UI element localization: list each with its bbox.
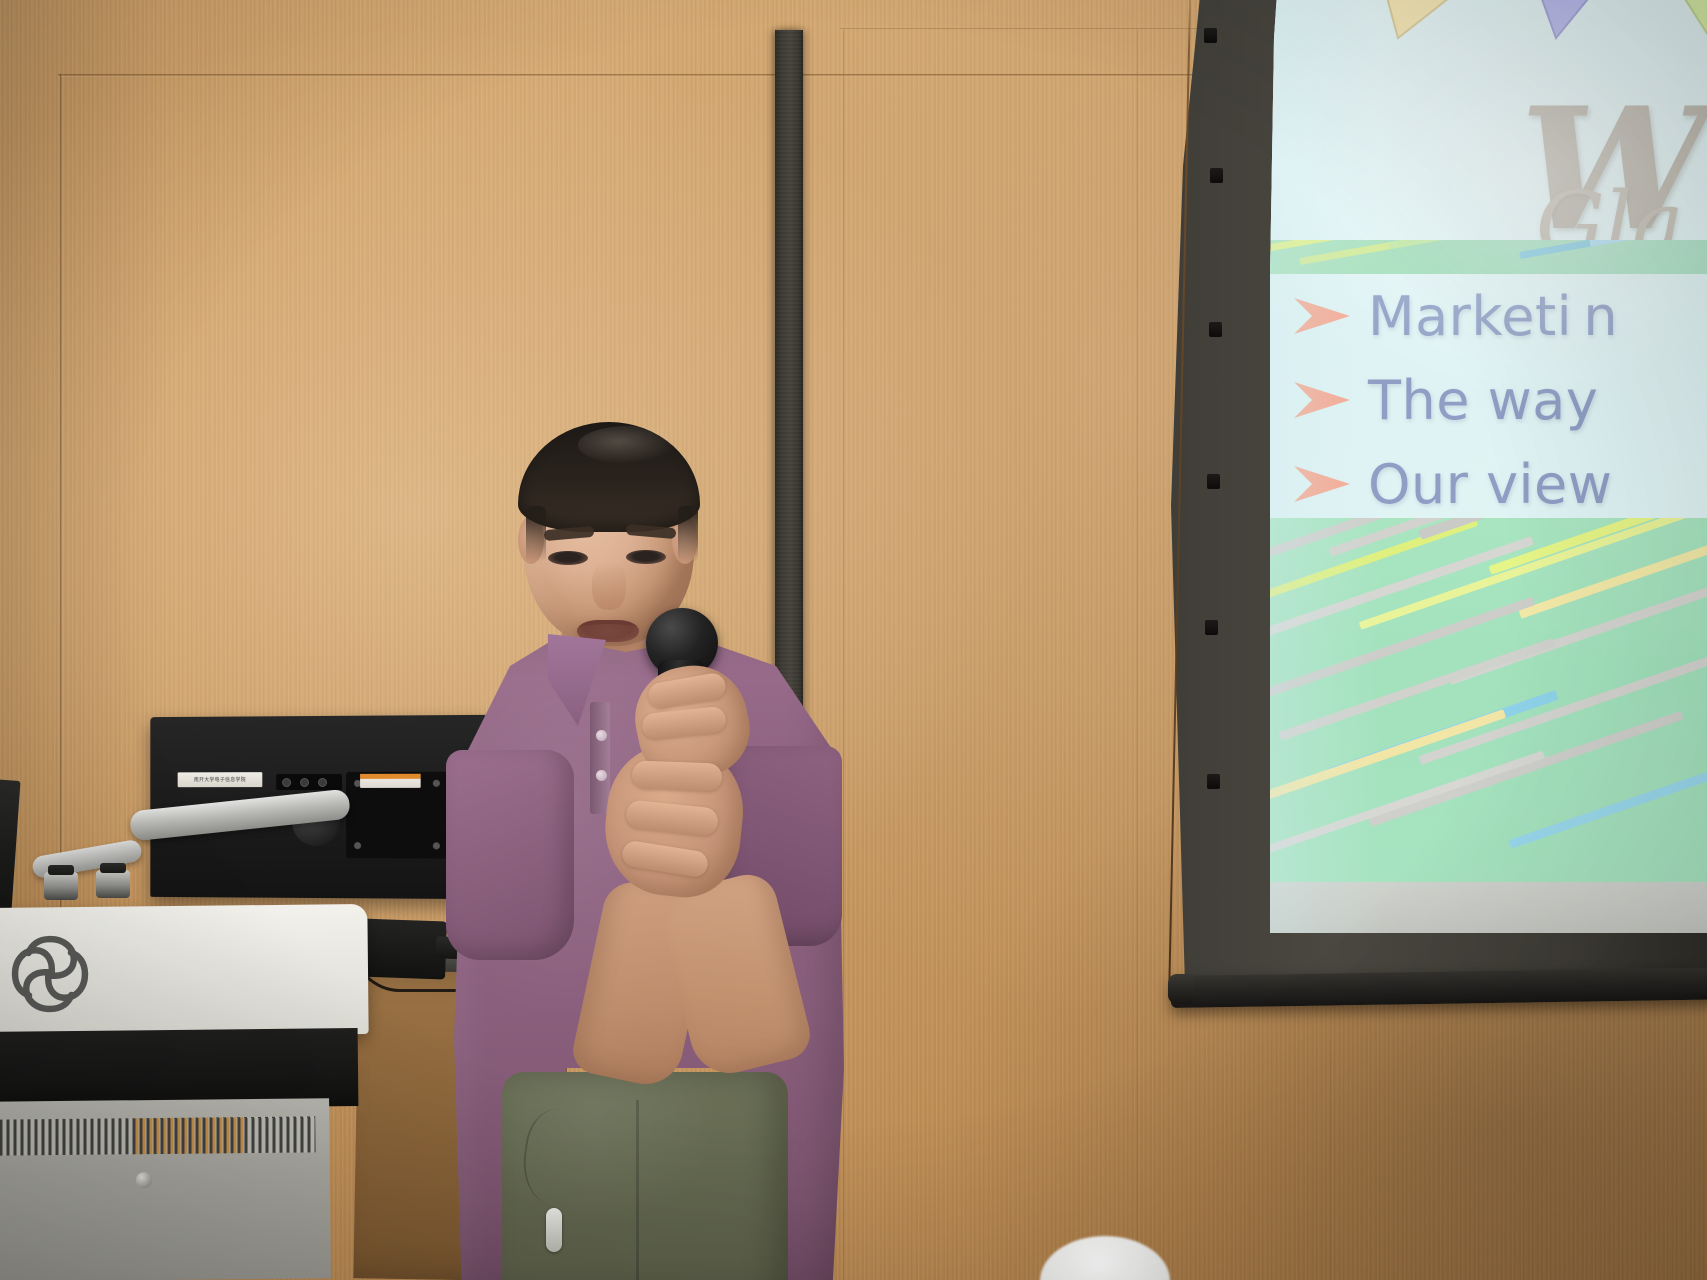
- slide-bullet-text: Marketi n: [1368, 285, 1618, 348]
- speaker-figure: [440, 410, 860, 1280]
- monitor-warning-sticker: [360, 774, 421, 788]
- slide-bullet-text: Our view: [1368, 453, 1612, 516]
- slide-top-triangles: [1360, 0, 1707, 46]
- arrow-bullet-icon: [1292, 378, 1354, 422]
- cabinet-vent-highlight: [135, 1117, 245, 1154]
- monitor-label: 南开大学电子信息学院: [178, 772, 263, 787]
- arm-adjust-knob[interactable]: [44, 872, 78, 900]
- screen-weight-bar-endcap: [1168, 974, 1194, 1004]
- wall-seam-horizontal-top: [58, 74, 1218, 77]
- photo-scene: W Gla Marketi n: [0, 0, 1707, 1280]
- sideburn-right: [678, 506, 698, 562]
- shirt-button: [596, 770, 607, 781]
- screen-clip: [1209, 322, 1222, 337]
- slide-bullet-text: The way: [1368, 369, 1598, 432]
- screen-clip: [1207, 474, 1220, 489]
- trouser-seam: [636, 1100, 639, 1280]
- nose: [592, 562, 626, 610]
- slide-bullet-item: Our view: [1292, 442, 1707, 526]
- slide-bottom-striped-panel: [1270, 518, 1707, 896]
- slide-bullet-item: Marketi n: [1292, 274, 1707, 358]
- slide-bullet-list: Marketi n The way: [1292, 274, 1707, 526]
- projection-screen: W Gla Marketi n: [1163, 0, 1707, 1004]
- lectern-base-cabinet: [0, 1098, 331, 1280]
- arrow-bullet-icon: [1292, 294, 1354, 338]
- shirt-placket: [590, 702, 610, 814]
- polyu-knot-logo: [4, 928, 97, 1021]
- monitor-ports: [276, 774, 342, 790]
- shirt-button: [596, 730, 607, 741]
- slide-bullet-item: The way: [1292, 358, 1707, 442]
- wall-seam-vertical-right: [1137, 30, 1139, 1280]
- eye-left: [548, 551, 588, 565]
- arrow-bullet-icon: [1292, 462, 1354, 506]
- slide-footer-bar: [1270, 882, 1707, 940]
- screen-clip: [1210, 168, 1223, 183]
- eye-right: [626, 550, 666, 564]
- trouser-zip-pull: [546, 1208, 562, 1252]
- wall-seam-vertical-far-right: [1330, 1040, 1332, 1280]
- screen-clip: [1204, 28, 1217, 43]
- projected-slide: W Gla Marketi n: [1270, 0, 1707, 940]
- arm-adjust-knob[interactable]: [96, 870, 130, 898]
- sleeve-left: [446, 750, 574, 960]
- cabinet-lock[interactable]: [136, 1172, 152, 1188]
- slide-divider-strip: [1270, 240, 1707, 274]
- screen-clip: [1205, 620, 1218, 635]
- finger: [632, 760, 723, 791]
- screen-clip: [1207, 774, 1220, 789]
